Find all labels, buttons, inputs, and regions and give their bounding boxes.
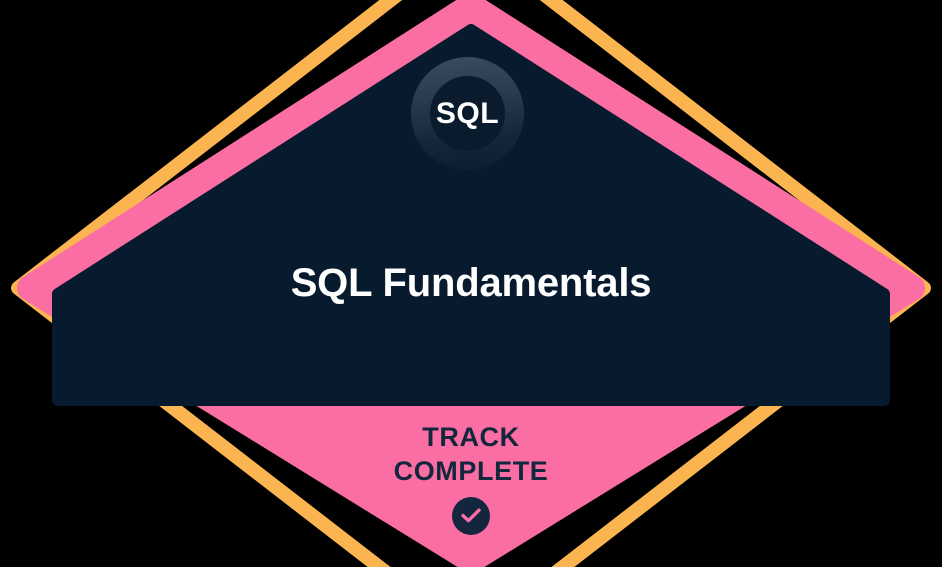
track-emblem: SQL [411, 57, 524, 170]
track-completion-badge: SQL SQL Fundamentals TRACK COMPLETE [0, 0, 942, 567]
check-icon [452, 497, 490, 535]
emblem-label: SQL [411, 57, 524, 170]
